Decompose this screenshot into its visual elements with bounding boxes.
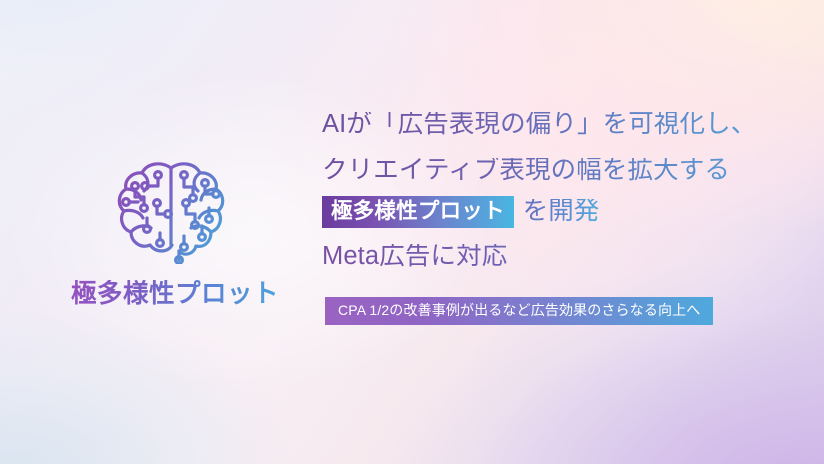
headline-line-1: AIが「広告表現の偏り」を可視化し、 xyxy=(322,112,792,138)
cpa-result-banner: CPA 1/2の改善事例が出るなど広告効果のさらなる向上へ xyxy=(325,297,713,326)
meta-support-line: Meta広告に対応 xyxy=(322,244,792,270)
product-name-row: 極多様性プロット を開発 xyxy=(322,196,792,228)
brain-circuit-icon xyxy=(114,156,236,264)
product-logo-title: 極多様性プロット xyxy=(60,280,290,308)
headline-copy-block: AIが「広告表現の偏り」を可視化し、 クリエイティブ表現の幅を拡大する 極多様性… xyxy=(322,112,792,325)
headline-line-2: クリエイティブ表現の幅を拡大する xyxy=(322,158,792,184)
slide-canvas: 極多様性プロット AIが「広告表現の偏り」を可視化し、 クリエイティブ表現の幅を… xyxy=(0,0,824,464)
product-name-suffix: を開発 xyxy=(523,199,600,225)
product-name-badge: 極多様性プロット xyxy=(322,196,514,228)
product-logo-block: 極多様性プロット xyxy=(60,156,290,308)
